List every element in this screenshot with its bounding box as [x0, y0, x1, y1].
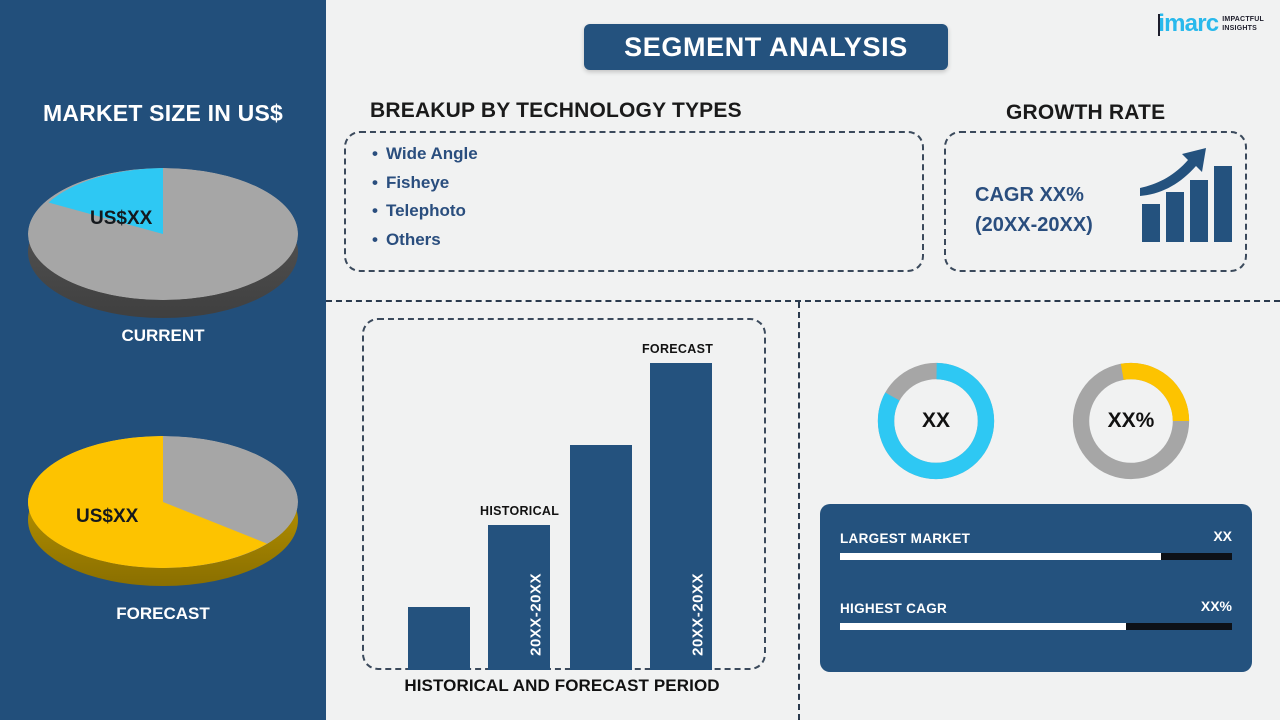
list-item-fisheye: Fisheye — [372, 169, 478, 198]
logo-tagline-line1: IMPACTFUL — [1222, 16, 1264, 23]
bar-2-top-label: HISTORICAL — [480, 504, 559, 518]
bar-2-period-label: 20XX-20XX — [528, 573, 545, 656]
page-title: SEGMENT ANALYSIS — [624, 32, 908, 63]
key-stats-panel: LARGEST MARKET XX HIGHEST CAGR XX% — [820, 504, 1252, 672]
horizontal-divider — [326, 300, 1280, 302]
logo-divider-bar — [1158, 14, 1160, 36]
logo-tagline-line2: INSIGHTS — [1222, 25, 1257, 32]
pie-top-face — [28, 168, 298, 300]
stat-row-highest-cagr: HIGHEST CAGR XX% — [840, 600, 1232, 630]
current-pie-caption: CURRENT — [0, 326, 326, 346]
market-size-sidebar: MARKET SIZE IN US$ US$XX CURRENT — [0, 0, 326, 720]
imarc-logo: imarc IMPACTFUL INSIGHTS — [1158, 12, 1264, 36]
growth-arrow-chart-icon — [1140, 148, 1234, 253]
forecast-pie-chart: US$XX — [28, 436, 298, 586]
largest-market-label: LARGEST MARKET — [840, 531, 970, 546]
bar-4-top-label: FORECAST — [642, 342, 713, 356]
highest-cagr-label: HIGHEST CAGR — [840, 601, 947, 616]
current-pie-block: US$XX CURRENT — [0, 168, 326, 346]
donut-right-value: XX% — [1065, 355, 1197, 487]
donut-left-value: XX — [870, 355, 1002, 487]
pie-top-face — [28, 436, 298, 568]
bar-1 — [408, 607, 470, 670]
bar-4: 20XX-20XX — [650, 363, 712, 670]
highest-cagr-progress-track — [840, 623, 1232, 630]
imarc-wordmark: imarc — [1158, 12, 1218, 36]
list-item-telephoto: Telephoto — [372, 197, 478, 226]
forecast-pie-caption: FORECAST — [0, 604, 326, 624]
page-title-banner: SEGMENT ANALYSIS — [584, 24, 948, 70]
historical-forecast-bar-chart: HISTORICAL 20XX-20XX FORECAST 20XX-20XX — [400, 340, 730, 670]
breakup-heading: BREAKUP BY TECHNOLOGY TYPES — [370, 99, 742, 123]
list-item-others: Others — [372, 226, 478, 255]
bar-3 — [570, 445, 632, 670]
donut-chart-left: XX — [870, 355, 1002, 487]
bar-2: 20XX-20XX — [488, 525, 550, 670]
sidebar-title: MARKET SIZE IN US$ — [0, 100, 326, 127]
list-item-wide-angle: Wide Angle — [372, 140, 478, 169]
largest-market-progress-fill — [840, 553, 1161, 560]
cagr-period: (20XX-20XX) — [975, 210, 1093, 240]
cagr-text: CAGR XX% (20XX-20XX) — [975, 180, 1093, 240]
largest-market-progress-track — [840, 553, 1232, 560]
vertical-divider — [798, 302, 800, 720]
highest-cagr-value: XX% — [1201, 598, 1232, 614]
cagr-value: CAGR XX% — [975, 180, 1093, 210]
technology-type-list: Wide Angle Fisheye Telephoto Others — [372, 140, 478, 254]
stat-row-largest-market: LARGEST MARKET XX — [840, 530, 1232, 560]
donut-chart-right: XX% — [1065, 355, 1197, 487]
highest-cagr-progress-fill — [840, 623, 1126, 630]
growth-rate-heading: GROWTH RATE — [1006, 101, 1165, 125]
forecast-pie-block: US$XX FORECAST — [0, 436, 326, 624]
largest-market-value: XX — [1213, 528, 1232, 544]
current-pie-chart: US$XX — [28, 168, 298, 318]
bar-4-period-label: 20XX-20XX — [690, 573, 707, 656]
bar-chart-caption: HISTORICAL AND FORECAST PERIOD — [326, 676, 798, 696]
logo-tagline: IMPACTFUL INSIGHTS — [1222, 15, 1264, 34]
